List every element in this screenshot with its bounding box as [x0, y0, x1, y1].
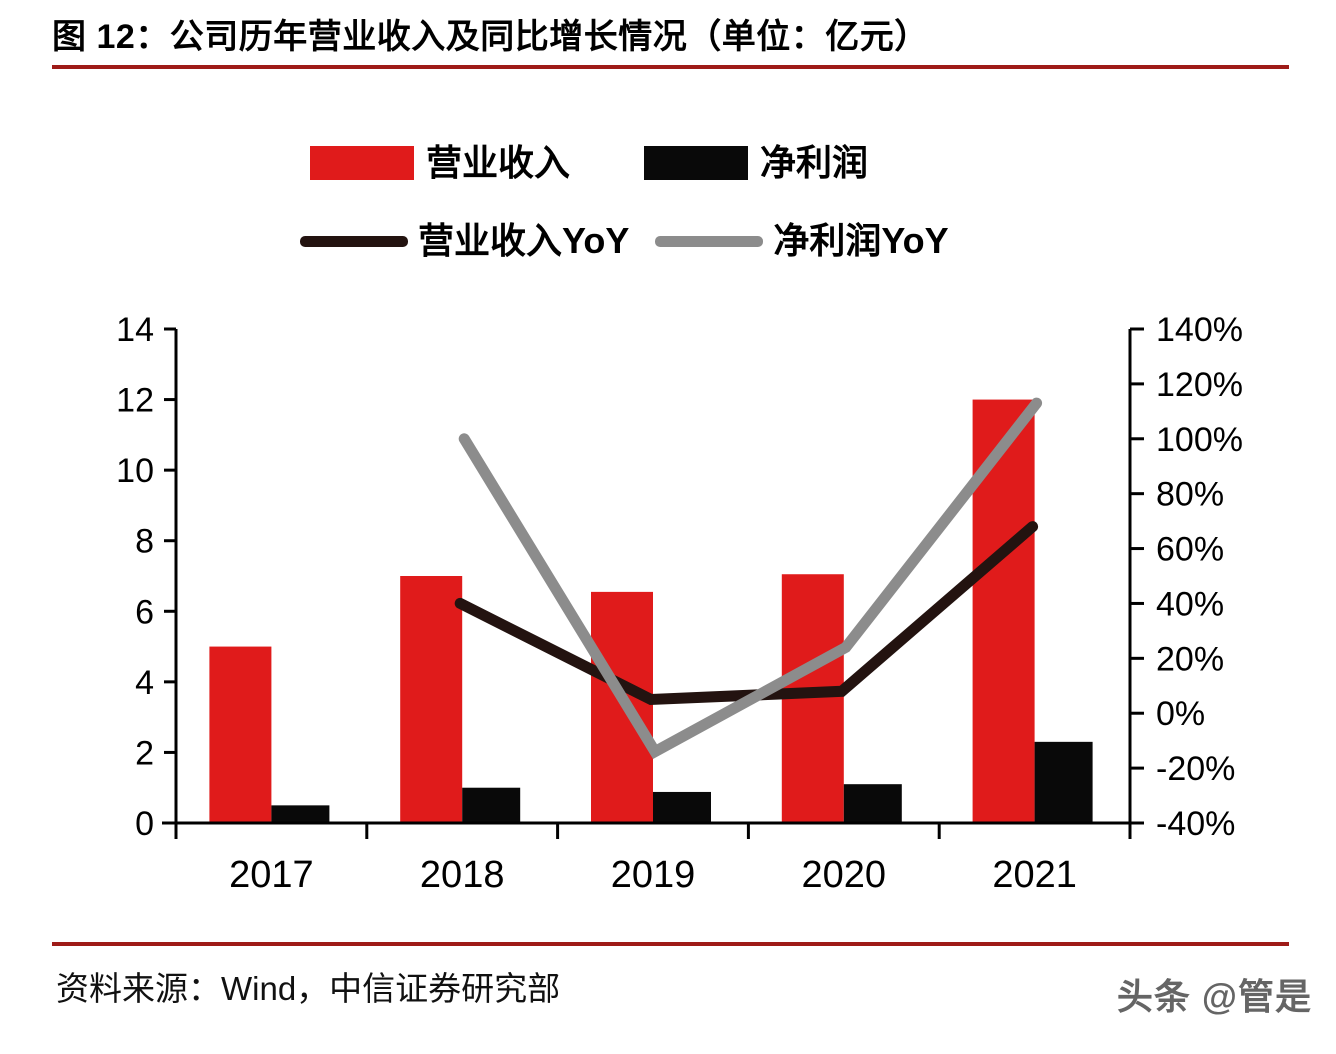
- watermark-label: 头条 @管是: [1117, 968, 1312, 1020]
- left-axis-tick-label: 12: [116, 382, 154, 420]
- right-axis-tick-label: 0%: [1156, 695, 1205, 733]
- right-axis-tick-label: 120%: [1156, 366, 1243, 404]
- bar-net-profit-2020: [844, 784, 902, 823]
- left-axis-tick-label: 0: [135, 805, 154, 843]
- right-axis-tick-label: -40%: [1156, 805, 1235, 843]
- bar-revenue-2021: [973, 400, 1035, 823]
- title-divider: [52, 65, 1289, 69]
- legend-swatch-revenue-yoy-icon: [300, 236, 408, 247]
- bar-net-profit-2017: [271, 805, 329, 823]
- right-axis-tick-label: 20%: [1156, 640, 1224, 678]
- left-axis-tick-label: 4: [135, 664, 154, 702]
- left-y-axis: 02468101214: [116, 311, 176, 843]
- bar-revenue-2017: [209, 647, 271, 823]
- page-title: 图 12：公司历年营业收入及同比增长情况（单位：亿元）: [52, 14, 1292, 60]
- x-axis-tick-label: 2019: [611, 854, 696, 896]
- x-axis-tick-label: 2017: [229, 854, 314, 896]
- left-axis-tick-label: 6: [135, 593, 154, 631]
- right-axis-tick-label: 140%: [1156, 311, 1243, 349]
- legend-swatch-net-profit-icon: [644, 146, 748, 180]
- x-axis-tick-label: 2018: [420, 854, 505, 896]
- bar-net-profit-2018: [462, 788, 520, 823]
- legend-row-bars: 营业收入 净利润: [310, 143, 868, 183]
- legend-label-net-profit: 净利润: [760, 143, 868, 183]
- line-revenue-yoy: [460, 527, 1032, 700]
- legend-label-net-profit-yoy: 净利润YoY: [773, 221, 948, 261]
- left-axis-tick-label: 2: [135, 734, 154, 772]
- chart-legend: 营业收入 净利润 营业收入YoY 净利润YoY: [300, 135, 1060, 285]
- bar-net-profit-2019: [653, 792, 711, 823]
- legend-label-revenue-yoy: 营业收入YoY: [418, 221, 629, 261]
- right-axis-tick-label: 100%: [1156, 421, 1243, 459]
- left-axis-tick-label: 14: [116, 311, 154, 349]
- right-axis-tick-label: 60%: [1156, 531, 1224, 569]
- right-axis-tick-label: 40%: [1156, 585, 1224, 623]
- line-series-group: [460, 403, 1036, 751]
- x-axis: 20172018201920202021: [162, 823, 1130, 896]
- legend-swatch-revenue-icon: [310, 146, 414, 180]
- footer-divider: [52, 942, 1289, 946]
- right-axis-tick-label: -20%: [1156, 750, 1235, 788]
- legend-item-net-profit-yoy[interactable]: 净利润YoY: [655, 221, 948, 261]
- bar-series-group: [209, 400, 1092, 823]
- source-note: 资料来源：Wind，中信证券研究部: [56, 962, 560, 1010]
- line-net-profit-yoy: [464, 403, 1036, 751]
- bar-revenue-2018: [400, 576, 462, 823]
- right-y-axis: -40%-20%0%20%40%60%80%100%120%140%: [1130, 311, 1243, 843]
- figure-container: 图 12：公司历年营业收入及同比增长情况（单位：亿元） 营业收入 净利润 营业收…: [0, 0, 1336, 1054]
- left-axis-tick-label: 8: [135, 523, 154, 561]
- legend-item-revenue-yoy[interactable]: 营业收入YoY: [300, 221, 629, 261]
- bar-net-profit-2021: [1035, 742, 1093, 823]
- legend-label-revenue: 营业收入: [426, 143, 570, 183]
- chart-plot-area: 02468101214 -40%-20%0%20%40%60%80%100%12…: [0, 300, 1336, 920]
- right-axis-tick-label: 80%: [1156, 476, 1224, 514]
- legend-swatch-net-profit-yoy-icon: [655, 236, 763, 247]
- figure-title-block: 图 12：公司历年营业收入及同比增长情况（单位：亿元）: [52, 14, 1292, 72]
- left-axis-tick-label: 10: [116, 452, 154, 490]
- x-axis-tick-label: 2020: [802, 854, 887, 896]
- legend-row-lines: 营业收入YoY 净利润YoY: [300, 221, 949, 261]
- chart-canvas: 02468101214 -40%-20%0%20%40%60%80%100%12…: [0, 300, 1336, 920]
- x-axis-tick-label: 2021: [992, 854, 1077, 896]
- legend-item-revenue[interactable]: 营业收入: [310, 143, 570, 183]
- legend-item-net-profit[interactable]: 净利润: [644, 143, 868, 183]
